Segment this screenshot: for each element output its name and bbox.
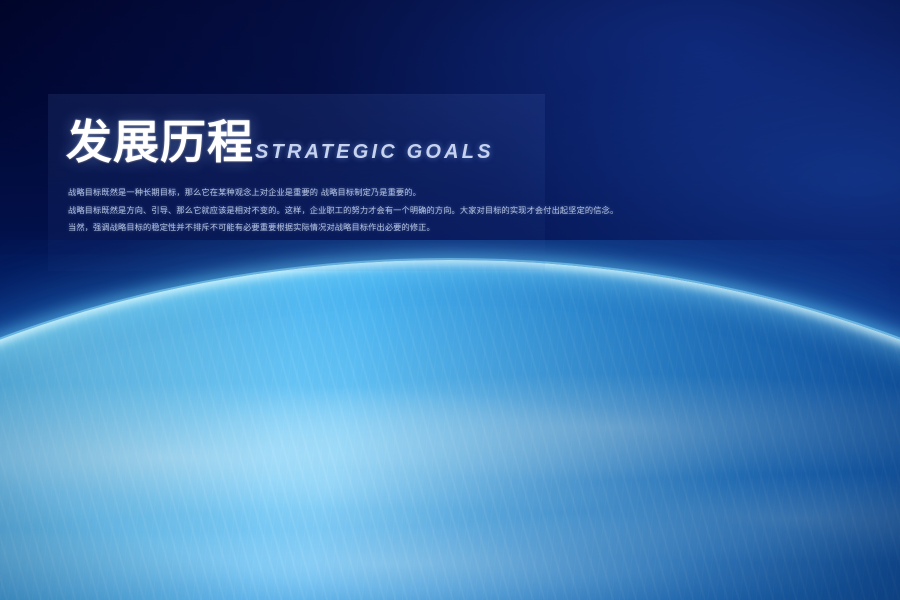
body-line-2: 战略目标既然是方向、引导、那么它就应该是相对不变的。这样，企业职工的努力才会有一…	[68, 204, 588, 217]
page-title: 发展历程	[66, 118, 254, 166]
banner-canvas: 发展历程 STRATEGIC GOALS 战略目标既然是一种长期目标，那么它在某…	[0, 0, 900, 600]
body-line-1: 战略目标既然是一种长期目标，那么它在某种观念上对企业是重要的 战略目标制定乃是重…	[68, 186, 588, 199]
body-paragraph: 战略目标既然是一种长期目标，那么它在某种观念上对企业是重要的 战略目标制定乃是重…	[68, 186, 588, 239]
body-line-3: 当然，强调战略目标的稳定性并不排斥不可能有必要重要根据实际情况对战略目标作出必要…	[68, 221, 588, 234]
earth-container	[0, 240, 900, 600]
headline-group: 发展历程 STRATEGIC GOALS	[66, 118, 494, 166]
page-subtitle: STRATEGIC GOALS	[255, 142, 494, 166]
earth-limb-highlight	[0, 260, 900, 600]
